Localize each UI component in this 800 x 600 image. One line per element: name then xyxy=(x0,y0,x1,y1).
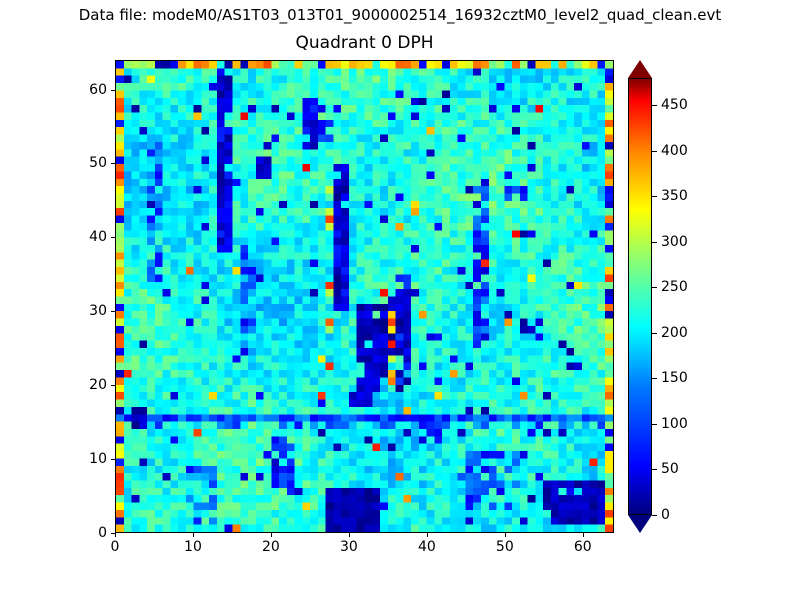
y-tick-mark xyxy=(111,459,115,460)
colorbar-tick-mark xyxy=(652,469,657,470)
colorbar-tick-mark xyxy=(652,333,657,334)
colorbar-tick-label: 250 xyxy=(661,279,688,295)
colorbar-tick-mark xyxy=(652,424,657,425)
x-tick-label: 50 xyxy=(485,539,525,555)
colorbar-tick-mark xyxy=(652,196,657,197)
colorbar-tick-mark xyxy=(652,515,657,516)
colorbar-tick-label: 200 xyxy=(661,325,688,341)
x-tick-label: 20 xyxy=(251,539,291,555)
colorbar-tick-label: 0 xyxy=(661,507,670,523)
figure-suptitle: Data file: modeM0/AS1T03_013T01_90000025… xyxy=(0,5,800,25)
colorbar-extend-min-arrow xyxy=(628,515,652,533)
y-tick-label: 30 xyxy=(67,303,107,319)
colorbar-tick-mark xyxy=(652,242,657,243)
y-tick-label: 60 xyxy=(67,82,107,98)
x-tick-label: 10 xyxy=(173,539,213,555)
y-tick-mark xyxy=(111,533,115,534)
heatmap-axes[interactable] xyxy=(115,60,614,533)
x-tick-mark xyxy=(505,533,506,537)
y-tick-label: 10 xyxy=(67,451,107,467)
x-tick-mark xyxy=(349,533,350,537)
x-tick-label: 40 xyxy=(407,539,447,555)
colorbar-tick-label: 50 xyxy=(661,461,679,477)
y-tick-label: 40 xyxy=(67,229,107,245)
heatmap-image xyxy=(116,61,613,532)
y-tick-mark xyxy=(111,163,115,164)
colorbar-tick-mark xyxy=(652,378,657,379)
x-tick-mark xyxy=(271,533,272,537)
y-tick-mark xyxy=(111,311,115,312)
y-tick-label: 50 xyxy=(67,155,107,171)
x-tick-mark xyxy=(583,533,584,537)
colorbar-tick-mark xyxy=(652,105,657,106)
colorbar-tick-mark xyxy=(652,287,657,288)
colorbar-tick-label: 350 xyxy=(661,188,688,204)
y-tick-mark xyxy=(111,385,115,386)
colorbar-extend-max-arrow xyxy=(628,60,652,78)
axes-title: Quadrant 0 DPH xyxy=(115,32,614,54)
y-tick-label: 20 xyxy=(67,377,107,393)
colorbar-tick-label: 400 xyxy=(661,143,688,159)
colorbar-tick-label: 450 xyxy=(661,97,688,113)
x-tick-label: 0 xyxy=(95,539,135,555)
colorbar-tick-label: 150 xyxy=(661,370,688,386)
y-tick-mark xyxy=(111,237,115,238)
colorbar-tick-label: 300 xyxy=(661,234,688,250)
figure-canvas: Data file: modeM0/AS1T03_013T01_90000025… xyxy=(0,0,800,600)
x-tick-label: 30 xyxy=(329,539,369,555)
colorbar-tick-mark xyxy=(652,151,657,152)
y-tick-label: 0 xyxy=(67,525,107,541)
x-tick-mark xyxy=(427,533,428,537)
x-tick-label: 60 xyxy=(563,539,603,555)
colorbar-gradient[interactable] xyxy=(628,78,652,515)
colorbar-tick-label: 100 xyxy=(661,416,688,432)
y-tick-mark xyxy=(111,90,115,91)
x-tick-mark xyxy=(115,533,116,537)
x-tick-mark xyxy=(193,533,194,537)
